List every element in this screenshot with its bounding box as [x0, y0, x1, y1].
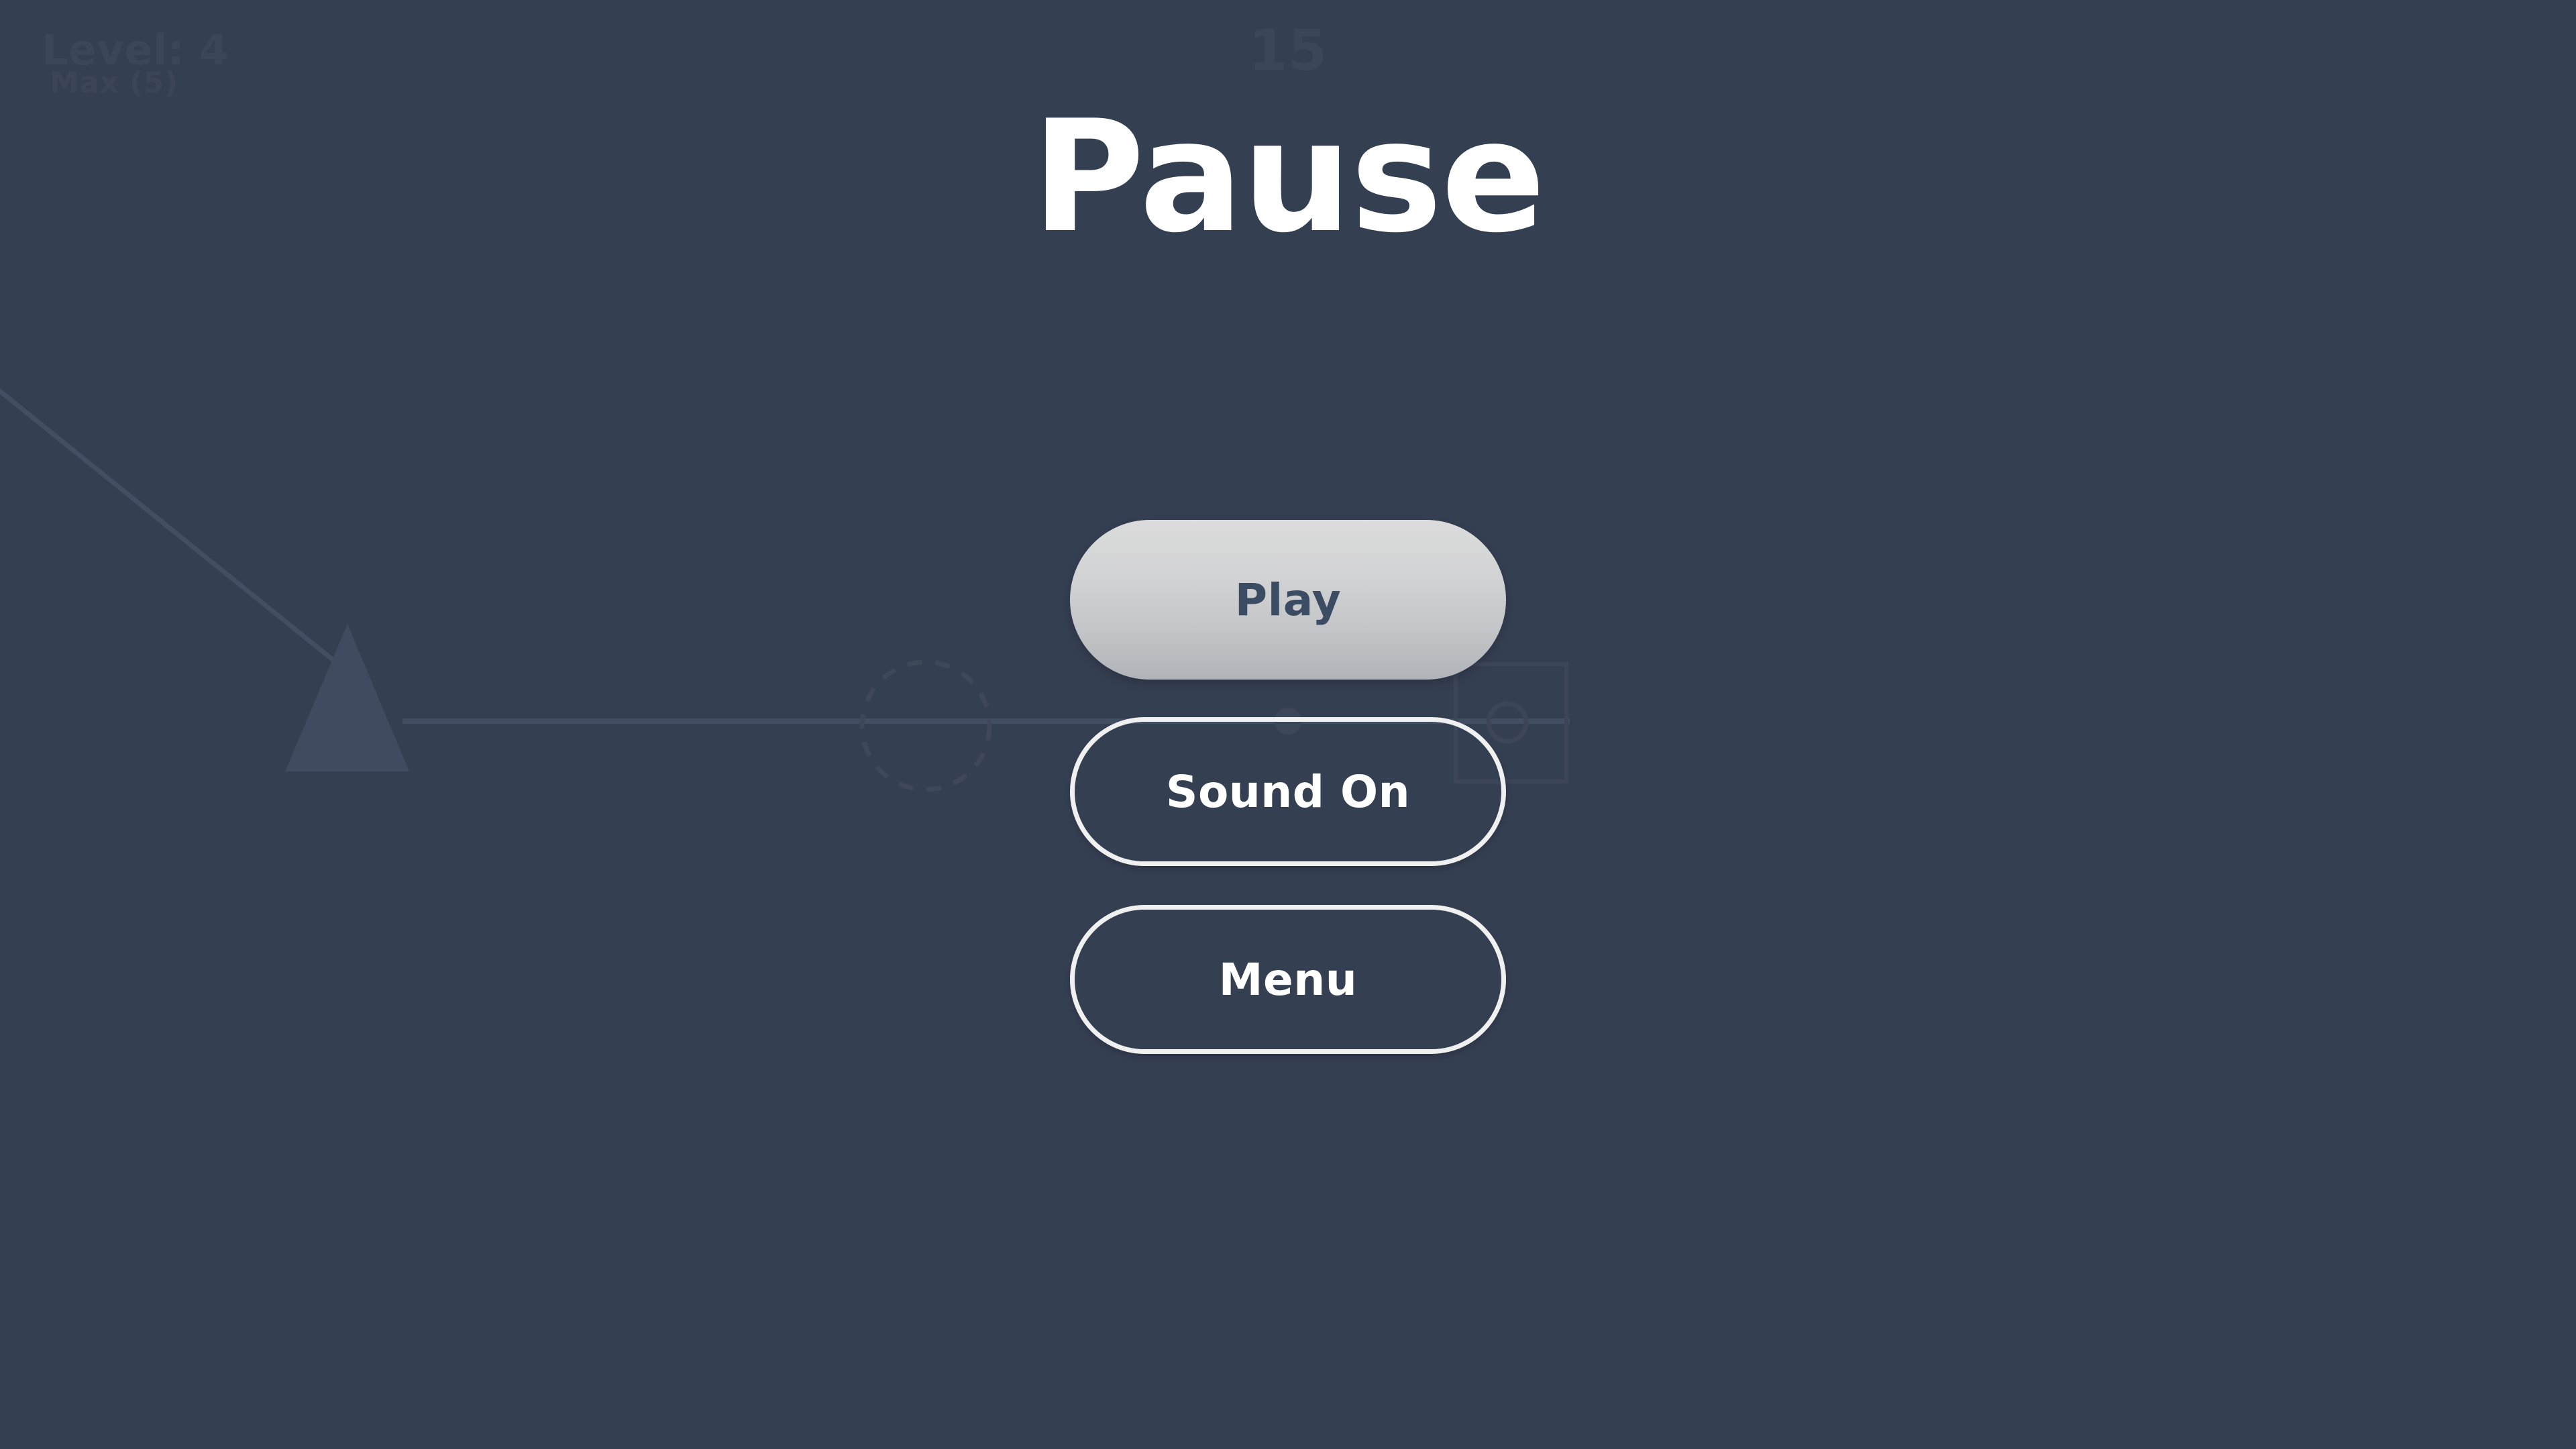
pause-title: Pause [1032, 101, 1544, 255]
main-menu-button[interactable]: Menu [1070, 905, 1506, 1054]
pause-overlay: Pause Play Sound On Menu [0, 0, 2576, 1449]
play-button-label: Play [1235, 574, 1342, 626]
main-menu-label: Menu [1219, 954, 1357, 1006]
sound-toggle-button[interactable]: Sound On [1070, 717, 1506, 866]
sound-toggle-label: Sound On [1166, 766, 1410, 818]
play-button[interactable]: Play [1070, 520, 1506, 680]
game-screen: Level: 4 Max (5) 15 Pause Play Sound On … [0, 0, 2576, 1449]
pause-menu-buttons: Play Sound On Menu [1070, 520, 1506, 1054]
